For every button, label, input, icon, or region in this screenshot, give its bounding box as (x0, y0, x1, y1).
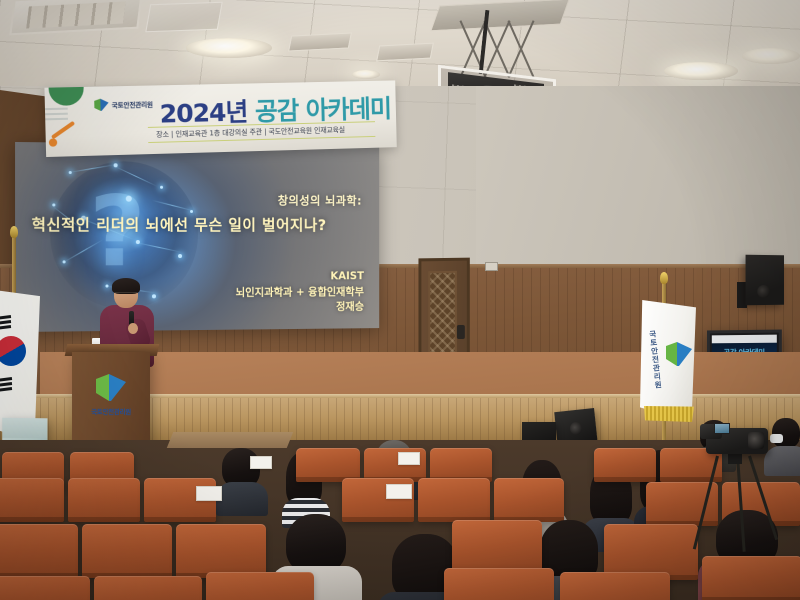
seat (0, 576, 90, 600)
banner-decoration-dash (51, 121, 75, 140)
banner-org-logo-text: 국토안전관리원 (112, 99, 153, 110)
seat (176, 524, 266, 578)
seat (430, 448, 492, 482)
seat (206, 572, 314, 600)
org-flag-text: 국토안전관리원 (647, 330, 664, 390)
org-flag-logo-icon (666, 342, 692, 366)
org-flag-finial (660, 272, 668, 284)
slide-credit-speaker: 정재승 (236, 300, 364, 316)
korea-flag-finial (10, 226, 18, 238)
organization-flag: 국토안전관리원 (640, 300, 696, 422)
banner-org-logo: 국토안전관리원 (94, 98, 153, 111)
banner-decoration-lines (45, 108, 68, 121)
wall-sign-plate (485, 262, 498, 271)
event-banner: 국토안전관리원 2024년 공감 아카데미 장소 | 인재교육관 1층 대강의실… (44, 80, 396, 157)
lectern-top-surface (2, 418, 47, 438)
face-mask-icon (770, 434, 783, 443)
seat-name-card (386, 484, 412, 499)
seat (702, 556, 800, 600)
camera-lens (748, 432, 764, 449)
seat (494, 478, 564, 522)
signage-header-bar (712, 335, 777, 344)
podium-logo-icon (96, 374, 126, 401)
presentation-slide: ? 창의성의 뇌과학: 혁신적인 리더의 뇌에선 무슨 일이 벌어지나? (15, 142, 379, 332)
slide-credit-dept: 뇌인지과학과 + 융합인재학부 (236, 285, 364, 301)
slide-credit: KAIST 뇌인지과학과 + 융합인재학부 정재승 (236, 270, 364, 316)
slide-credit-org: KAIST (236, 270, 364, 286)
seat (94, 576, 202, 600)
seat (594, 448, 656, 482)
seat (68, 478, 140, 522)
banner-decoration-dot (49, 138, 57, 146)
wall-pa-speaker (746, 255, 784, 306)
slide-title-line1: 창의성의 뇌과학: (278, 192, 362, 208)
seat (0, 478, 64, 522)
ceiling-vent-slot-2 (376, 43, 434, 62)
presenter-hand (128, 323, 138, 334)
door-handle[interactable] (457, 325, 465, 339)
ceiling-downlight-1 (186, 38, 272, 58)
seat (452, 520, 542, 574)
glasses-icon (115, 292, 137, 297)
camera-lcd-screen (714, 423, 730, 434)
taeguk-symbol (0, 336, 26, 366)
seat-name-card (250, 456, 272, 469)
seat (0, 524, 78, 578)
air-conditioner-vent-secondary (145, 2, 222, 32)
ceiling-vent-slot (288, 32, 352, 51)
seat (296, 448, 360, 482)
projection-screen: ? 창의성의 뇌과학: 혁신적인 리더의 뇌에선 무슨 일이 벌어지나? (15, 142, 379, 332)
ceiling-downlight-2 (664, 62, 738, 80)
seat (444, 568, 554, 600)
seat (82, 524, 172, 578)
seat-name-card (398, 452, 420, 465)
ceiling (0, 0, 800, 96)
org-flag-fringe (644, 406, 694, 422)
center-aisle (167, 432, 293, 448)
seat (560, 572, 670, 600)
chevron-logo-icon (94, 99, 109, 111)
podium-org-text: 국토안전관리원 (72, 406, 150, 416)
slide-title-line2: 혁신적인 리더의 뇌에선 무슨 일이 벌어지나? (32, 214, 327, 235)
ceiling-downlight-3 (352, 70, 380, 79)
ceiling-downlight-4 (742, 48, 800, 64)
seat (418, 478, 490, 522)
seat-name-card (196, 486, 222, 501)
lecture-hall-photo: ? 창의성의 뇌과학: 혁신적인 리더의 뇌에선 무슨 일이 벌어지나? (0, 0, 800, 600)
